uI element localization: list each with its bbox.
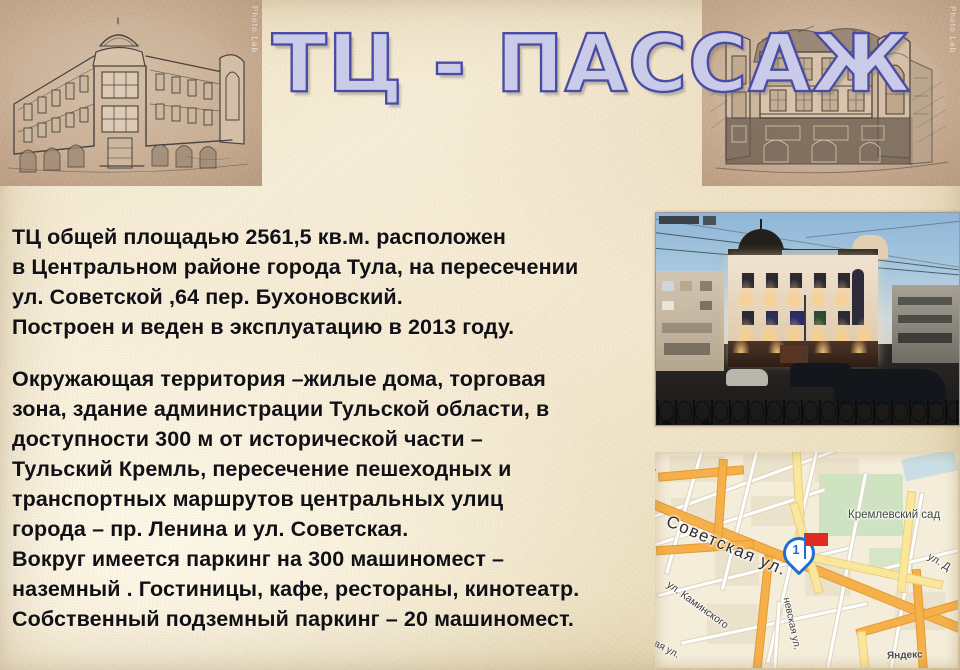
text-line: ТЦ общей площадью 2561,5 кв.м. расположе…	[12, 222, 660, 252]
text-line: Тульский Кремль, пересечение пешеходных …	[12, 454, 660, 484]
paragraph-general-info: ТЦ общей площадью 2561,5 кв.м. расположе…	[12, 222, 660, 342]
photo-left-building	[656, 271, 724, 371]
text-line: Вокруг имеется паркинг на 300 машиномест…	[12, 544, 660, 574]
map-vignette	[655, 452, 958, 668]
text-line: Собственный подземный паркинг – 20 машин…	[12, 604, 660, 634]
slide-canvas: Photo Lab	[0, 0, 960, 670]
photo-dome-spire	[760, 219, 762, 231]
photo-car	[834, 369, 946, 405]
text-line: Построен и веден в эксплуатацию в 2013 г…	[12, 312, 660, 342]
text-line: ул. Советской ,64 пер. Бухоновский.	[12, 282, 660, 312]
text-line: зона, здание администрации Тульской обла…	[12, 394, 660, 424]
text-line: Окружающая территория –жилые дома, торго…	[12, 364, 660, 394]
sketch-image-left: Photo Lab	[0, 0, 262, 186]
sketch-drawing-left	[0, 0, 262, 186]
location-map[interactable]: Советская ул. Кремлевский сад ул. Каминс…	[655, 452, 958, 668]
watermark-photo-lab-right: Photo Lab	[948, 6, 957, 53]
text-line: транспортных маршрутов центральных улиц	[12, 484, 660, 514]
text-line: наземный . Гостиницы, кафе, рестораны, к…	[12, 574, 660, 604]
photo-building-evening	[655, 212, 960, 426]
text-line: города – пр. Ленина и ул. Советская.	[12, 514, 660, 544]
street-lamp	[804, 295, 806, 365]
text-line: в Центральном районе города Тула, на пер…	[12, 252, 660, 282]
page-title-text: ТЦ - ПАССАЖ	[272, 8, 704, 120]
photo-car	[726, 369, 768, 386]
photo-right-building	[892, 285, 959, 363]
text-line: доступности 300 м от исторической части …	[12, 424, 660, 454]
page-title: ТЦ - ПАССАЖ	[276, 8, 700, 128]
paragraph-surroundings: Окружающая территория –жилые дома, торго…	[12, 364, 660, 634]
watermark-photo-lab-left: Photo Lab	[250, 6, 259, 53]
